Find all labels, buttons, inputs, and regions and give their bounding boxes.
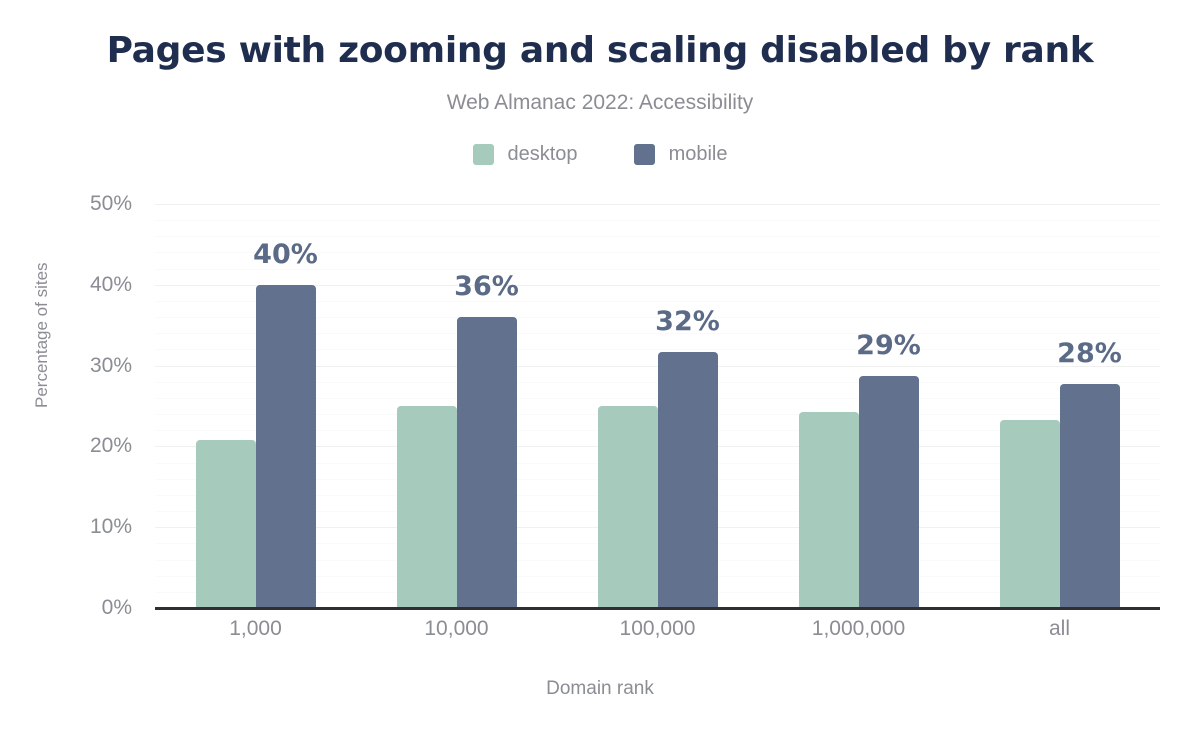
bar-mobile-100000[interactable] [658, 352, 718, 608]
legend-label-desktop: desktop [508, 143, 578, 166]
chart-title: Pages with zooming and scaling disabled … [0, 30, 1200, 71]
legend-swatch-desktop [473, 144, 494, 165]
x-axis-title: Domain rank [0, 678, 1200, 700]
y-axis-tick-label: 20% [32, 434, 132, 458]
y-axis-tick-label: 50% [32, 192, 132, 216]
x-axis-tick-label: 10,000 [424, 617, 488, 641]
bar-desktop-100000[interactable] [598, 406, 658, 608]
y-axis-title: Percentage of sites [32, 262, 52, 408]
bar-mobile-10000[interactable] [457, 317, 517, 608]
bar-desktop-all[interactable] [1000, 420, 1060, 608]
chart-legend: desktop mobile [0, 143, 1200, 166]
legend-item-desktop[interactable]: desktop [473, 143, 578, 166]
x-axis-tick-label: 1,000,000 [812, 617, 905, 641]
plot-area: 40%36%32%29%28% [155, 204, 1160, 608]
bar-value-label: 28% [1057, 338, 1122, 369]
bar-value-label: 40% [253, 239, 318, 270]
bar-value-label: 29% [856, 330, 921, 361]
legend-item-mobile[interactable]: mobile [634, 143, 728, 166]
x-axis-tick-label: all [1049, 617, 1070, 641]
legend-swatch-mobile [634, 144, 655, 165]
bar-desktop-10000[interactable] [397, 406, 457, 608]
legend-label-mobile: mobile [669, 143, 728, 166]
bar-value-label: 36% [454, 271, 519, 302]
x-axis-tick-label: 100,000 [620, 617, 696, 641]
bar-value-label: 32% [655, 306, 720, 337]
x-axis-line [155, 607, 1160, 610]
bar-group-container: 40%36%32%29%28% [155, 204, 1160, 608]
x-axis-tick-label: 1,000 [229, 617, 282, 641]
chart-subtitle: Web Almanac 2022: Accessibility [0, 91, 1200, 115]
chart-container: Pages with zooming and scaling disabled … [0, 0, 1200, 742]
y-axis-tick-label: 10% [32, 515, 132, 539]
bar-mobile-1000000[interactable] [859, 376, 919, 608]
bar-mobile-1000[interactable] [256, 285, 316, 608]
bar-mobile-all[interactable] [1060, 384, 1120, 608]
y-axis-tick-label: 0% [32, 596, 132, 620]
bar-desktop-1000[interactable] [196, 440, 256, 608]
bar-desktop-1000000[interactable] [799, 412, 859, 608]
